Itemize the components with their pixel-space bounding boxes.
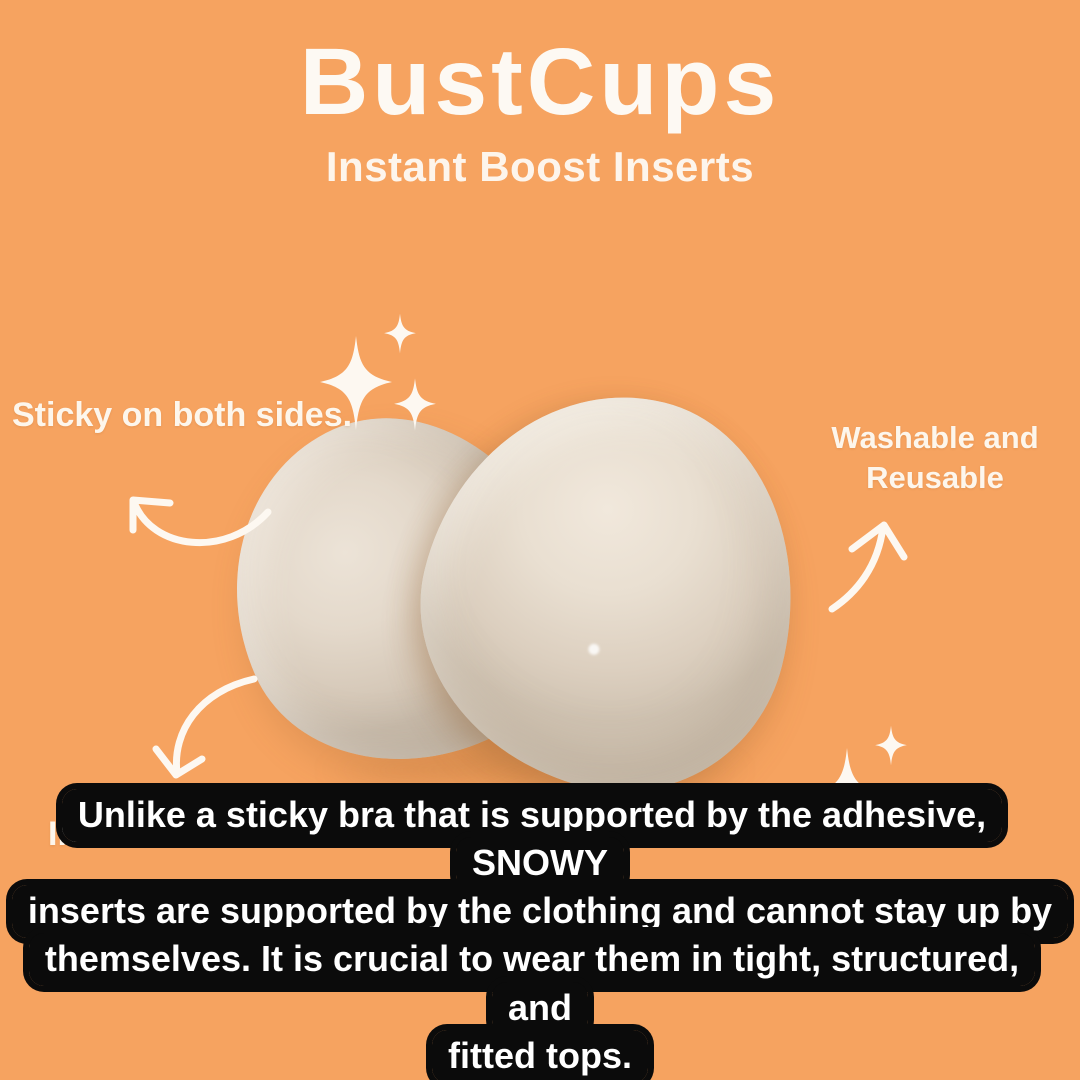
right-insert: [383, 356, 837, 826]
page-title: BustCups: [0, 34, 1080, 131]
annotation-washable-and-reusable: Washable and Reusable: [800, 418, 1070, 497]
sparkle-small-icon: [378, 312, 422, 356]
caption-line-text: inserts are supported by the clothing an…: [12, 885, 1068, 938]
sparkle-small-icon: [869, 724, 913, 768]
caption-line-text: Unlike a sticky bra that is supported by…: [62, 789, 1002, 890]
caption-line: fitted tops.: [0, 1032, 1080, 1080]
curved-arrow-up-right-icon: [828, 505, 943, 620]
annotation-sticky-on-both-sides: Sticky on both sides.: [12, 396, 352, 435]
right-insert-highlight: [587, 642, 600, 655]
product-image: [233, 395, 833, 795]
ad-creative-canvas: BustCups Instant Boost Inserts: [0, 0, 1080, 1080]
sparkle-medium-icon: [386, 376, 444, 434]
caption-block: Unlike a sticky bra that is supported by…: [0, 791, 1080, 1080]
caption-line: themselves. It is crucial to wear them i…: [0, 935, 1080, 1031]
caption-line-text: themselves. It is crucial to wear them i…: [29, 933, 1035, 1034]
caption-line-text: fitted tops.: [432, 1030, 648, 1080]
caption-line: Unlike a sticky bra that is supported by…: [0, 791, 1080, 887]
curved-arrow-down-left-icon: [138, 675, 273, 800]
curved-arrow-up-left-icon: [108, 478, 288, 573]
header: BustCups Instant Boost Inserts: [0, 0, 1080, 191]
page-subtitle: Instant Boost Inserts: [0, 143, 1080, 191]
caption-line: inserts are supported by the clothing an…: [0, 887, 1080, 935]
